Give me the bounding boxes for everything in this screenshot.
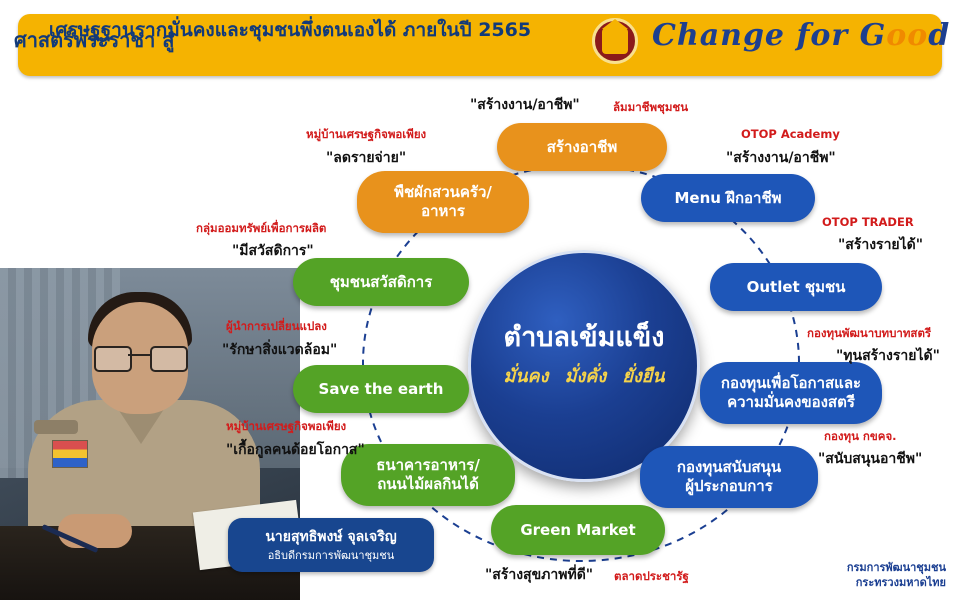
caption-9-text: "สร้างรายได้" (838, 234, 923, 256)
node-entrepreneur-fund-label: กองทุนสนับสนุน ผู้ประกอบการ (677, 458, 781, 496)
caption-3-text: "มีสวัสดิการ" (232, 240, 314, 262)
node-save-the-earth[interactable]: Save the earth (293, 365, 469, 413)
node-community-welfare[interactable]: ชุมชนสวัสดิการ (293, 258, 469, 306)
node-food-bank[interactable]: ธนาคารอาหาร/ ถนนไม้ผลกินได้ (341, 444, 515, 506)
caption-3-source: กลุ่มออมทรัพย์เพื่อการผลิต (196, 220, 326, 238)
name-plate-name: นายสุทธิพงษ์ จุลเจริญ (228, 526, 434, 548)
caption-2-source: หมู่บ้านเศรษฐกิจพอเพียง (306, 126, 426, 144)
node-women-fund-label: กองทุนเพื่อโอกาสและ ความมั่นคงของสตรี (721, 374, 861, 412)
center-sub-1: มั่นคง (503, 366, 548, 387)
node-sang-achip[interactable]: สร้างอาชีพ (497, 123, 667, 171)
node-green-market[interactable]: Green Market (491, 505, 665, 555)
caption-6-text: "สร้างสุขภาพที่ดี" (485, 564, 593, 586)
center-title: ตำบลเข้มแข็ง (471, 315, 697, 358)
caption-8-text: "ทุนสร้างรายได้" (836, 345, 940, 367)
caption-9-source: OTOP TRADER (822, 215, 914, 229)
node-menu-training[interactable]: Menu ฝึกอาชีพ (641, 174, 815, 222)
center-sub-3: ยั่งยืน (622, 366, 664, 387)
slogan-o-1: o (886, 18, 907, 53)
node-food-bank-label: ธนาคารอาหาร/ ถนนไม้ผลกินได้ (376, 456, 480, 494)
caption-4-text: "รักษาสิ่งแวดล้อม" (222, 339, 337, 361)
arrow-label: ศาสตร์พระราชา สู่ (14, 24, 174, 56)
caption-4-source: ผู้นำการเปลี่ยนแปลง (226, 318, 327, 336)
footer-credit: กรมการพัฒนาชุมชน กระทรวงมหาดไทย (847, 560, 946, 590)
center-subtitle: มั่นคง มั่งคั่ง ยั่งยืน (471, 361, 697, 390)
caption-8-source: กองทุนพัฒนาบทบาทสตรี (807, 325, 931, 343)
node-women-fund[interactable]: กองทุนเพื่อโอกาสและ ความมั่นคงของสตรี (700, 362, 882, 424)
caption-10-source: OTOP Academy (741, 127, 840, 141)
node-vegetable-garden-label: พืชผักสวนครัว/ อาหาร (394, 183, 492, 221)
poster-canvas: เศรษฐฐานรากมั่นคงและชุมชนพึ่งตนเองได้ ภา… (0, 0, 960, 600)
caption-1-text: "สร้างงาน/อาชีพ" (470, 94, 580, 116)
left-arrow-band (0, 120, 260, 192)
caption-1-source: ล้มมาชีพชุมชน (613, 99, 688, 117)
slogan-text-1: Change for G (652, 18, 886, 53)
slogan-o-2: o (907, 18, 928, 53)
caption-5-text: "เกื้อกูลคนด้อยโอกาส" (226, 439, 365, 461)
caption-7-text: "สนับสนุนอาชีพ" (818, 448, 922, 470)
cdd-seal-icon (592, 18, 638, 64)
slogan-text-2: d (928, 18, 950, 53)
node-outlet-community[interactable]: Outlet ชุมชน (710, 263, 882, 311)
name-plate-title: อธิบดีกรมการพัฒนาชุมชน (228, 546, 434, 564)
caption-5-source: หมู่บ้านเศรษฐกิจพอเพียง (226, 418, 346, 436)
footer-line-1: กรมการพัฒนาชุมชน (847, 560, 946, 575)
node-vegetable-garden[interactable]: พืชผักสวนครัว/ อาหาร (357, 171, 529, 233)
caption-7-source: กองทุน กขคจ. (824, 428, 897, 446)
node-entrepreneur-fund[interactable]: กองทุนสนับสนุน ผู้ประกอบการ (640, 446, 818, 508)
caption-10-text: "สร้างงาน/อาชีพ" (726, 147, 836, 169)
caption-6-source: ตลาดประชารัฐ (614, 568, 689, 586)
slogan-change-for-good: Change for Good (652, 18, 950, 53)
caption-2-text: "ลดรายจ่าย" (326, 147, 406, 169)
name-plate: นายสุทธิพงษ์ จุลเจริญ อธิบดีกรมการพัฒนาช… (228, 518, 434, 572)
footer-line-2: กระทรวงมหาดไทย (847, 575, 946, 590)
center-sub-2: มั่งคั่ง (565, 366, 606, 387)
